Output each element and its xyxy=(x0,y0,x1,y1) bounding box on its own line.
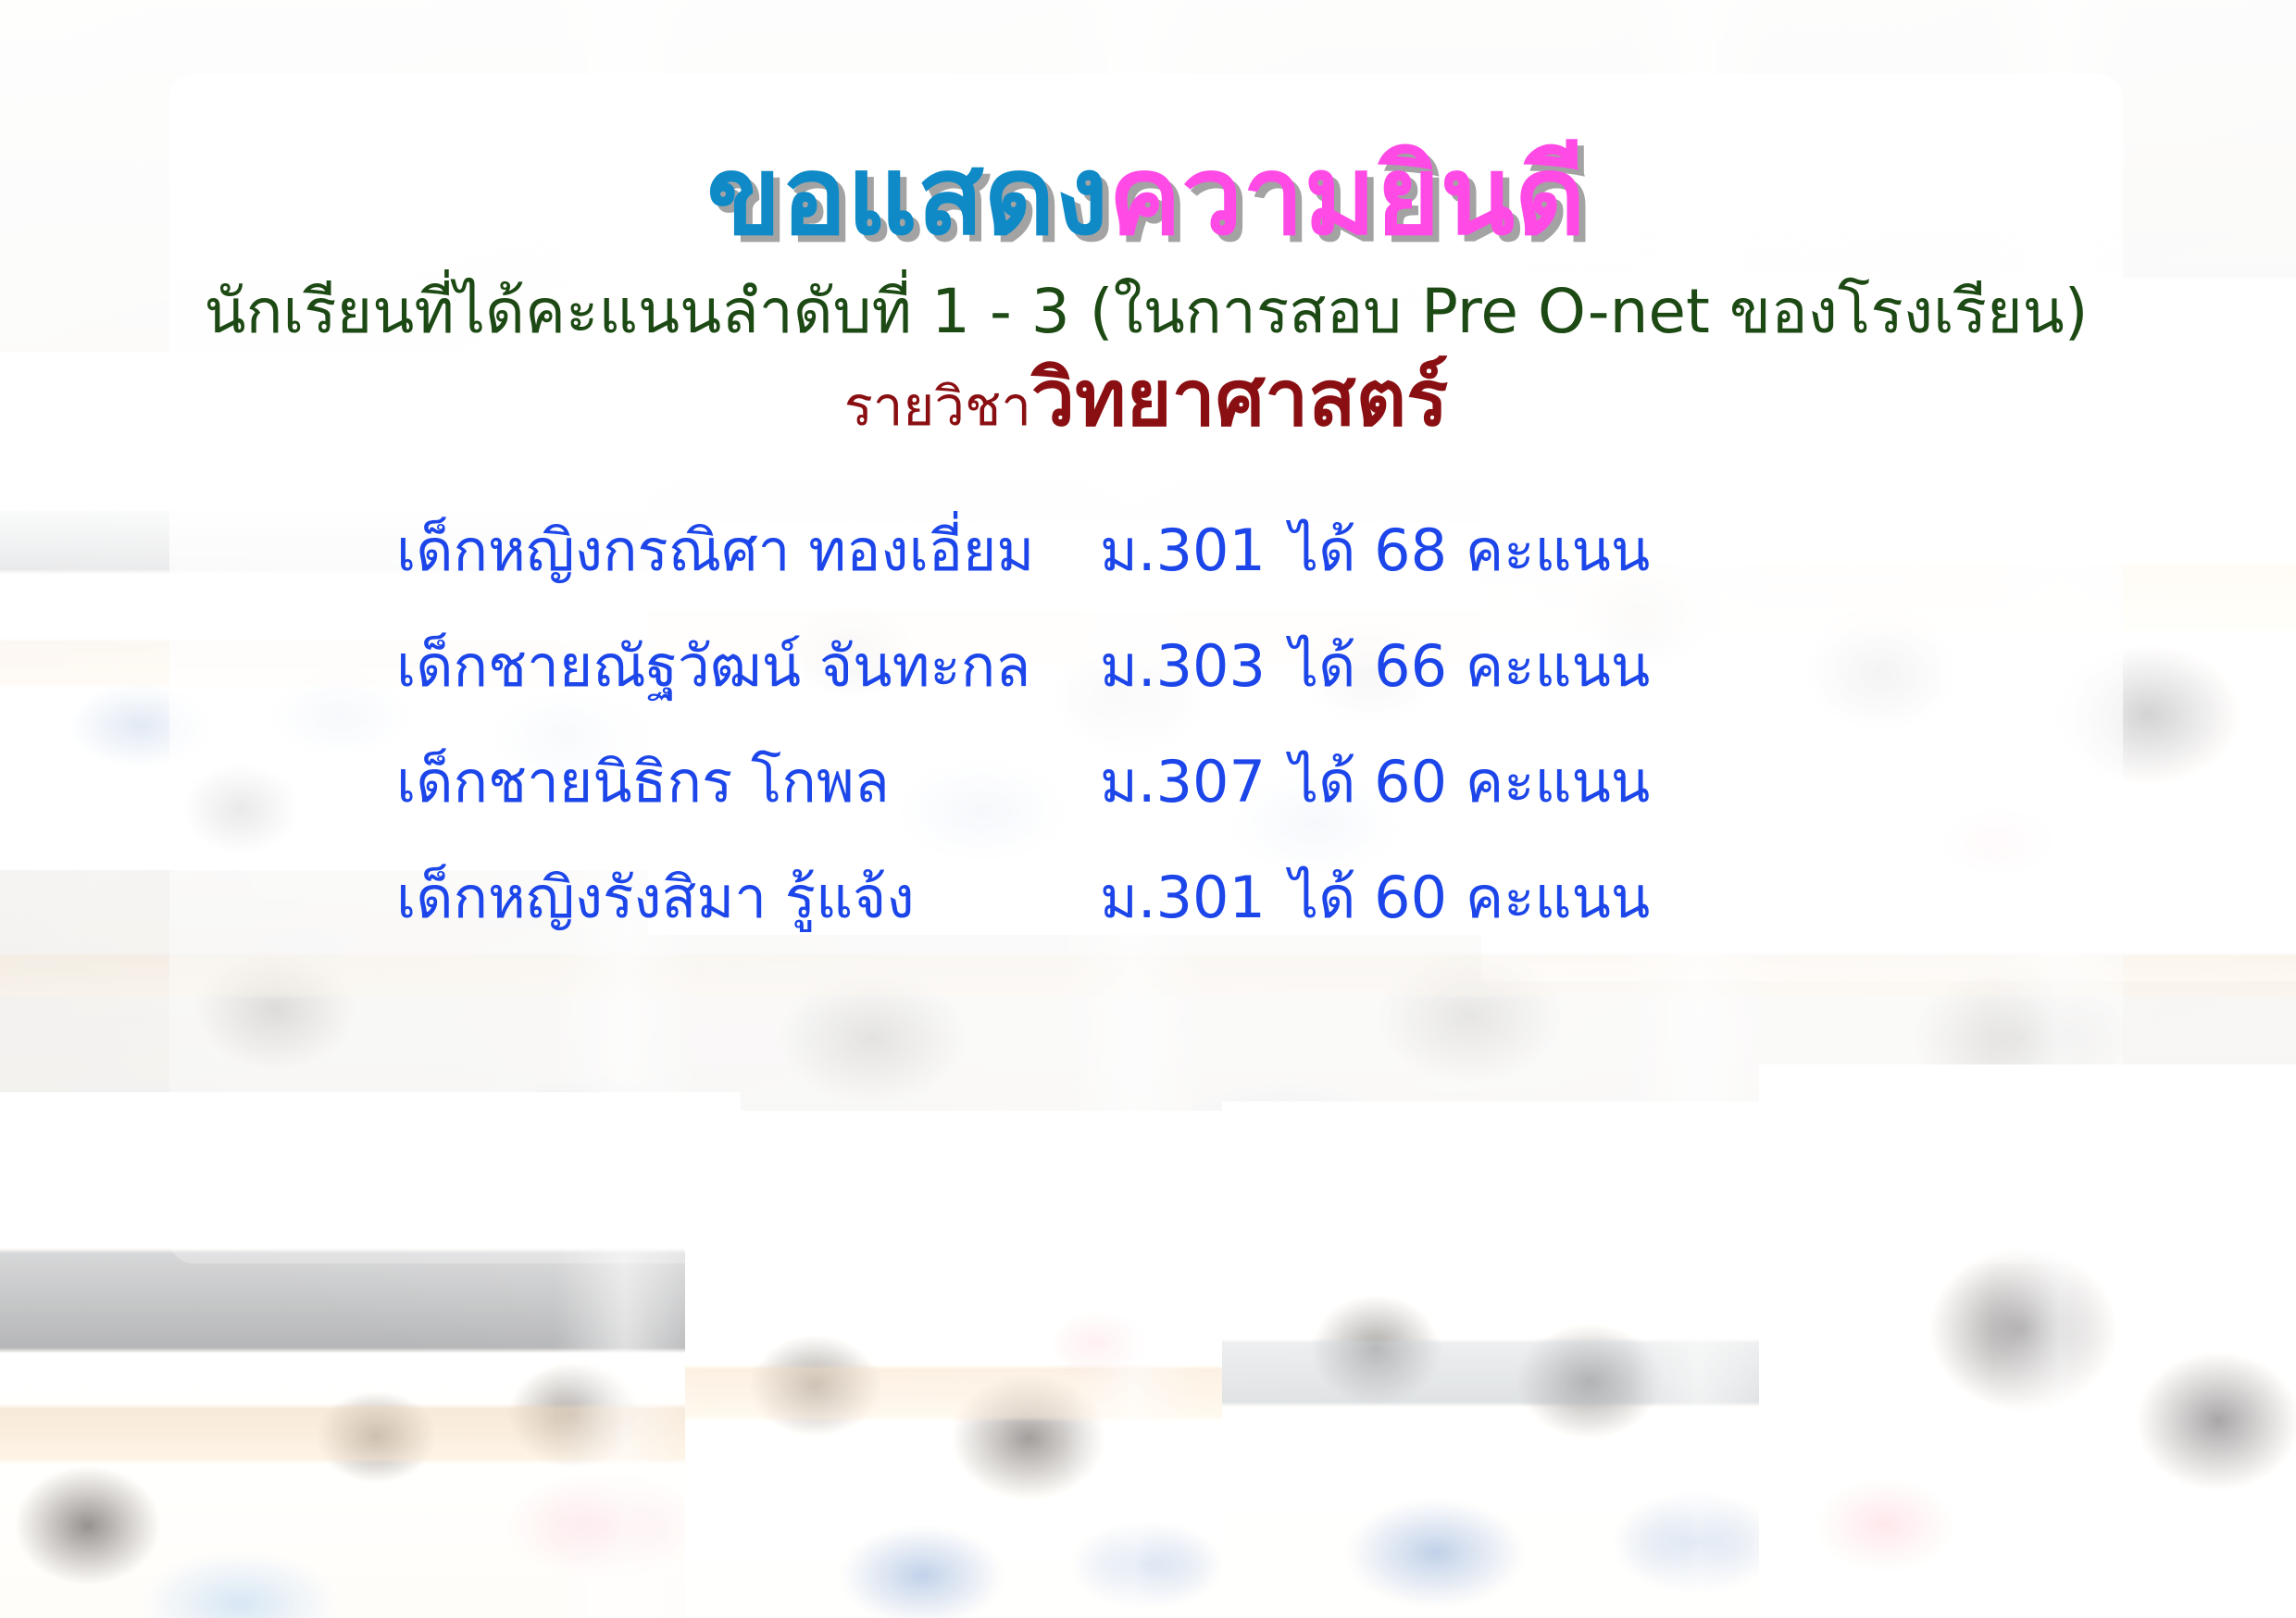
title-part-blue: ขอแสดง xyxy=(706,131,1108,259)
student-row: เด็กหญิงกรณิศา ทองเอี่ยม ม.301 ได้ 68 คะ… xyxy=(396,522,2123,638)
student-name: เด็กชายณัฐวัฒน์ จันทะกล xyxy=(396,638,1100,695)
student-row: เด็กชายนิธิกร โกพล ม.307 ได้ 60 คะแนน xyxy=(396,753,2123,869)
student-name: เด็กหญิงกรณิศา ทองเอี่ยม xyxy=(396,522,1100,579)
student-name: เด็กหญิงรังสิมา รู้แจ้ง xyxy=(396,869,1100,927)
student-row: เด็กชายณัฐวัฒน์ จันทะกล ม.303 ได้ 66 คะแ… xyxy=(396,638,2123,753)
page-title: ขอแสดงความยินดี xyxy=(169,139,2123,254)
student-score: ได้ 60 คะแนน xyxy=(1290,753,1771,811)
subject-prefix: รายวิชา xyxy=(844,375,1031,438)
student-room: ม.303 xyxy=(1100,638,1290,695)
student-room: ม.307 xyxy=(1100,753,1290,811)
subject-line: รายวิชาวิทยาศาสตร์ xyxy=(169,355,2123,441)
student-score: ได้ 68 คะแนน xyxy=(1290,522,1771,579)
student-name: เด็กชายนิธิกร โกพล xyxy=(396,753,1100,811)
student-score: ได้ 66 คะแนน xyxy=(1290,638,1771,695)
student-room: ม.301 xyxy=(1100,522,1290,579)
subject-name: วิทยาศาสตร์ xyxy=(1031,353,1448,443)
poster-content: ขอแสดงความยินดี นักเรียนที่ได้คะแนนลำดับ… xyxy=(169,74,2123,1263)
student-row: เด็กหญิงรังสิมา รู้แจ้ง ม.301 ได้ 60 คะแ… xyxy=(396,869,2123,985)
student-room: ม.301 xyxy=(1100,869,1290,927)
student-list: เด็กหญิงกรณิศา ทองเอี่ยม ม.301 ได้ 68 คะ… xyxy=(169,522,2123,985)
congratulation-poster: ขอแสดงความยินดี นักเรียนที่ได้คะแนนลำดับ… xyxy=(0,0,2296,1618)
title-part-pink: ความยินดี xyxy=(1108,131,1586,259)
subtitle-text: นักเรียนที่ได้คะแนนลำดับที่ 1 - 3 (ในการ… xyxy=(169,278,2123,346)
student-score: ได้ 60 คะแนน xyxy=(1290,869,1771,927)
